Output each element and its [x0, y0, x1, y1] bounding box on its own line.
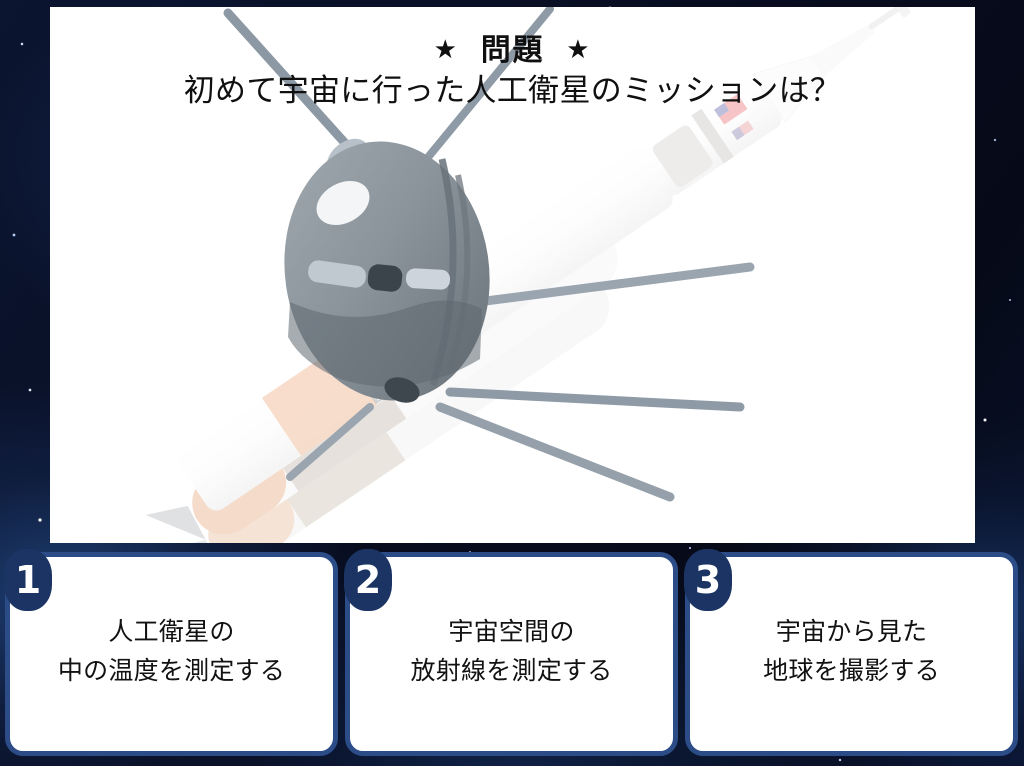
answer-badge-2: 2 — [344, 549, 392, 611]
answer-option-2[interactable]: 2 宇宙空間の 放射線を測定する — [345, 552, 678, 756]
answer-text-2-line-1: 宇宙空間の — [448, 618, 574, 646]
answer-text-1-line-2: 中の温度を測定する — [10, 652, 333, 691]
question-text: 初めて宇宙に行った人工衛星のミッションは？ — [50, 65, 975, 110]
answer-text-2-line-2: 放射線を測定する — [350, 652, 673, 691]
answer-option-3[interactable]: 3 宇宙から見た 地球を撮影する — [685, 552, 1018, 756]
quiz-slide: ★問題★ 初めて宇宙に行った人工衛星のミッションは？ 1 人工衛星の 中の温度を… — [0, 0, 1024, 766]
answer-options: 1 人工衛星の 中の温度を測定する 2 宇宙空間の 放射線を測定する 3 宇宙か… — [0, 552, 1024, 766]
answer-text-3-line-2: 地球を撮影する — [690, 652, 1013, 691]
answer-text-1-line-1: 人工衛星の — [108, 618, 234, 646]
answer-text-1: 人工衛星の 中の温度を測定する — [10, 613, 333, 691]
star-icon-right: ★ — [566, 34, 591, 64]
answer-option-1[interactable]: 1 人工衛星の 中の温度を測定する — [5, 552, 338, 756]
question-heading: ★問題★ — [50, 25, 975, 69]
question-panel: ★問題★ 初めて宇宙に行った人工衛星のミッションは？ — [50, 7, 975, 543]
question-heading-label: 問題 — [481, 34, 545, 67]
answer-text-2: 宇宙空間の 放射線を測定する — [350, 613, 673, 691]
star-icon-left: ★ — [434, 34, 459, 64]
answer-badge-3: 3 — [684, 549, 732, 611]
answer-badge-1: 1 — [4, 549, 52, 611]
answer-text-3-line-1: 宇宙から見た — [776, 618, 928, 646]
answer-text-3: 宇宙から見た 地球を撮影する — [690, 613, 1013, 691]
